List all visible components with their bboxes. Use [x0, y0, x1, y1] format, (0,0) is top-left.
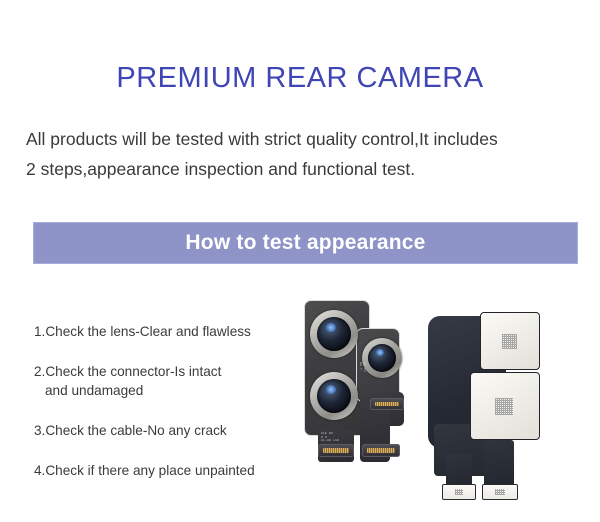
gold-connector-left [318, 444, 354, 457]
contact-pad-right [482, 484, 518, 500]
gold-connector-upper [370, 398, 404, 410]
flex-tail-left [446, 454, 472, 488]
intro-line-2: 2 steps,appearance inspection and functi… [26, 154, 574, 184]
flex-tail-right [484, 440, 514, 488]
emi-shield-upper [480, 312, 540, 370]
list-item: 1.Check the lens-Clear and flawless [34, 322, 296, 341]
section-banner-label: How to test appearance [185, 231, 425, 255]
intro-paragraph: All products will be tested with strict … [26, 124, 574, 184]
camera-lens-wide [310, 310, 358, 358]
connector-pads [367, 448, 395, 453]
emi-shield-lower [470, 372, 540, 440]
pad-marking [495, 489, 505, 495]
list-item: 4.Check if there any place unpainted [34, 461, 296, 480]
gold-connector-right [362, 444, 400, 457]
camera-lens-telephoto [362, 338, 402, 378]
camera-lens-ultrawide [310, 372, 358, 420]
checklist-item-1-text: 1.Check the lens-Clear and flawless [34, 324, 251, 339]
intro-line-1: All products will be tested with strict … [26, 124, 574, 154]
pad-marking [455, 489, 464, 495]
contact-pad-left [442, 484, 476, 500]
connector-pads [375, 402, 400, 406]
camera-module-back-view [428, 294, 554, 508]
silkscreen-marking-right: A1 23 B0 7 [359, 362, 366, 372]
checklist-item-3-text: 3.Check the cable-No any crack [34, 423, 227, 438]
list-item: 2.Check the connector-Is intact and unda… [34, 362, 296, 400]
section-banner: How to test appearance [33, 222, 578, 264]
camera-module-front-view: 9LE R0 R R 01-0B LGB A1 23 B0 7 [304, 300, 400, 450]
page-title: PREMIUM REAR CAMERA [0, 62, 600, 95]
checklist-item-2-text: 2.Check the connector-Is intact [34, 364, 221, 379]
checklist-item-4-text: 4.Check if there any place unpainted [34, 463, 255, 478]
product-photo: 9LE R0 R R 01-0B LGB A1 23 B0 7 [300, 288, 568, 516]
product-detail-page: PREMIUM REAR CAMERA All products will be… [0, 0, 600, 522]
appearance-checklist: 1.Check the lens-Clear and flawless 2.Ch… [34, 322, 296, 501]
silkscreen-marking-left: 9LE R0 R R 01-0B LGB [321, 432, 339, 443]
list-item: 3.Check the cable-No any crack [34, 421, 296, 440]
checklist-item-2-continuation: and undamaged [34, 381, 296, 400]
connector-pads [323, 448, 350, 453]
